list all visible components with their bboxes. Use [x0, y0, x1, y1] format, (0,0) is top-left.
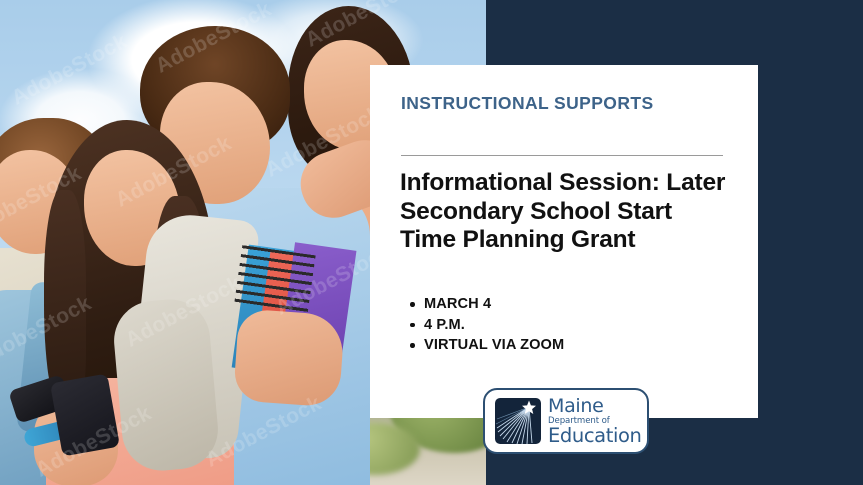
notebook-spiral-binding [234, 245, 315, 313]
eyebrow-label: INSTRUCTIONAL SUPPORTS [401, 92, 721, 115]
list-item: MARCH 4 [424, 294, 564, 315]
logo-line-maine: Maine [548, 397, 641, 416]
list-item: VIRTUAL VIA ZOOM [424, 335, 564, 356]
slide-canvas: AdobeStock AdobeStock AdobeStock AdobeSt… [0, 0, 863, 485]
content-card: INSTRUCTIONAL SUPPORTS Informational Ses… [370, 65, 758, 418]
list-item: 4 P.M. [424, 315, 564, 336]
logo-line-education: Education [548, 426, 641, 446]
event-details-list: MARCH 4 4 P.M. VIRTUAL VIA ZOOM [404, 294, 564, 356]
maine-doe-logo-badge: Maine Department of Education [483, 388, 649, 454]
divider-rule [401, 155, 723, 156]
mobile-phone [50, 374, 120, 457]
hand-holding-notebooks [233, 308, 345, 407]
page-title: Informational Session: Later Secondary S… [400, 169, 730, 255]
maine-doe-logo-icon [495, 398, 541, 444]
maine-doe-logo-text: Maine Department of Education [548, 397, 641, 445]
hoodie-body [111, 296, 221, 474]
